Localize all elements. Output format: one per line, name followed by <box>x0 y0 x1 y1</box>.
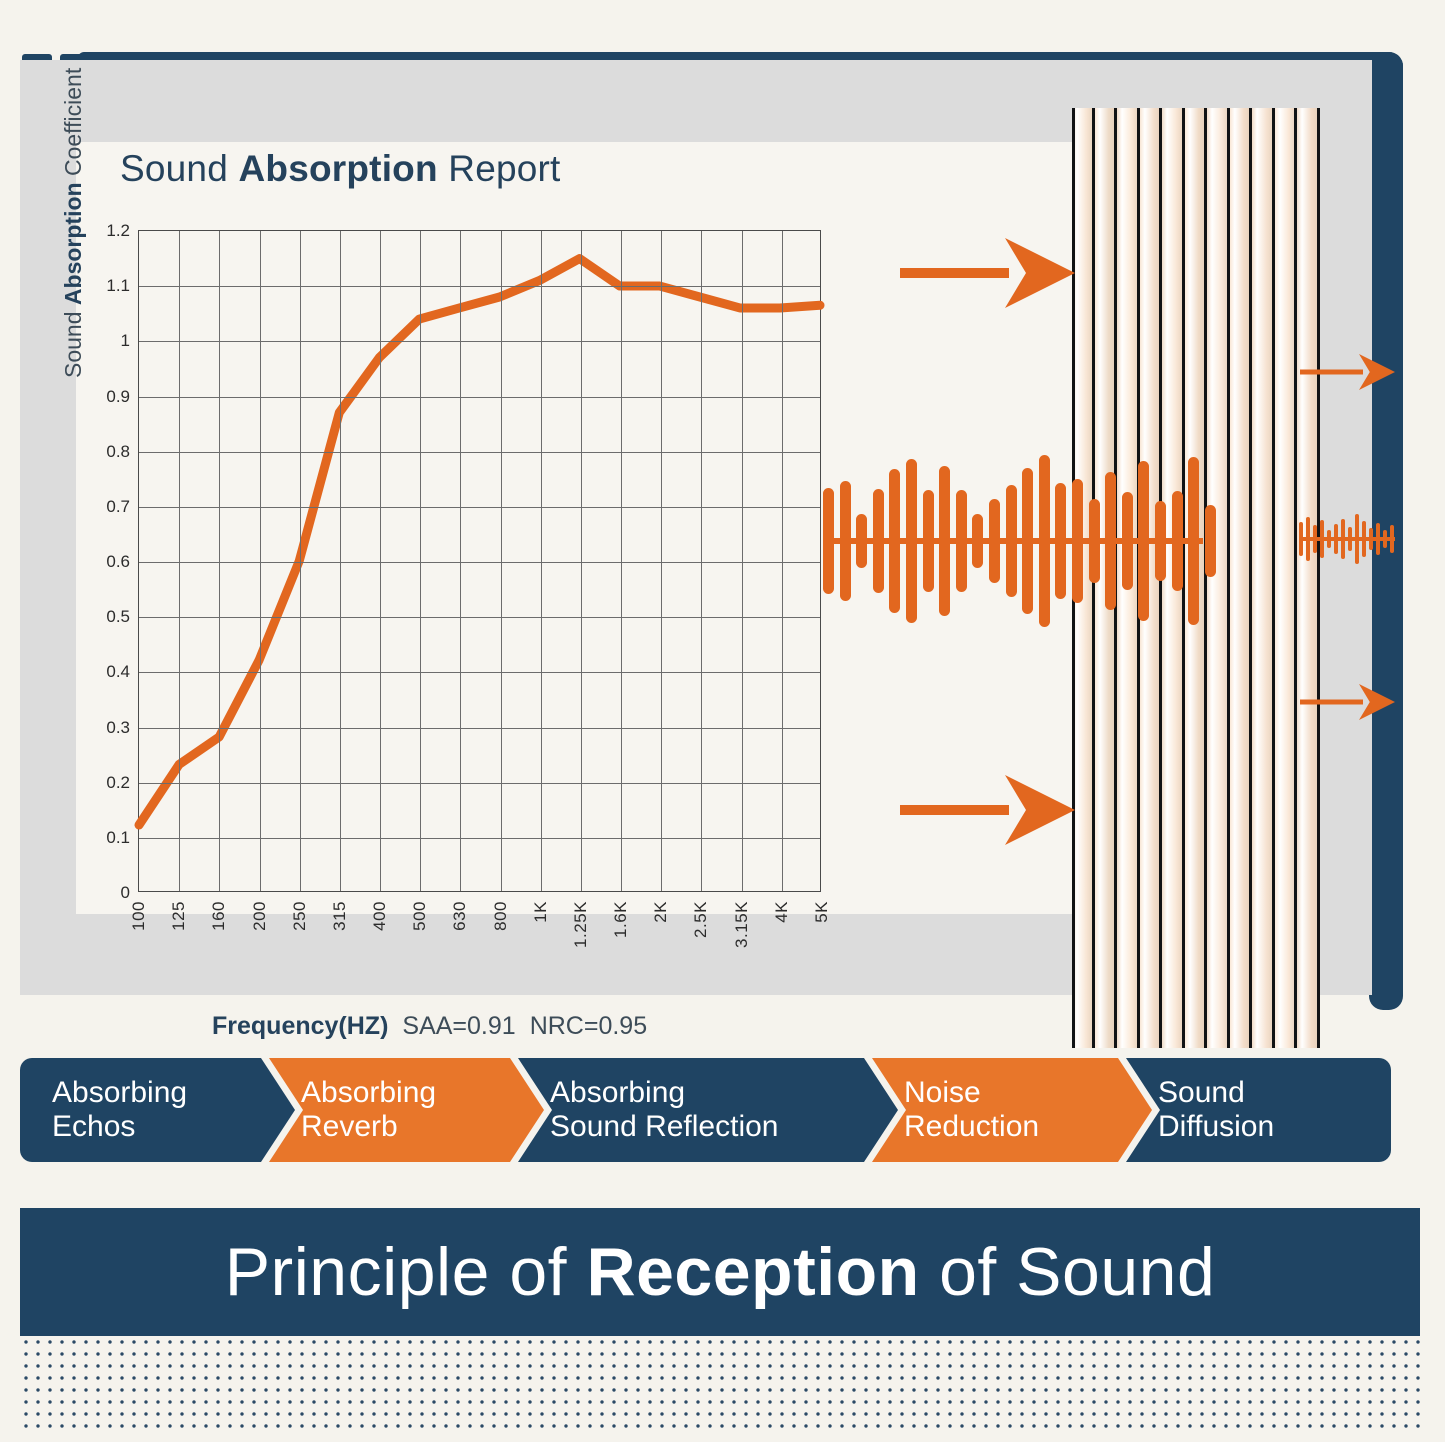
bottom-banner: Principle of Reception of Sound <box>20 1208 1420 1336</box>
gridline-horizontal <box>139 507 820 508</box>
x-axis-tick: 2K <box>651 901 671 923</box>
x-axis-tick: 630 <box>450 901 470 931</box>
gridline-horizontal <box>139 617 820 618</box>
x-axis-tick: 100 <box>129 901 149 931</box>
y-axis-tick: 1.1 <box>106 276 130 296</box>
gridline-vertical <box>581 231 582 891</box>
chevron-label-line1: Absorbing <box>550 1076 779 1110</box>
acoustic-slat-panel <box>1072 108 1320 1048</box>
y-axis-tick: 0.9 <box>106 387 130 407</box>
chevron-label: AbsorbingEchos <box>52 1076 187 1144</box>
x-axis-tick: 5K <box>812 901 832 923</box>
y-axis-tick: 0.8 <box>106 442 130 462</box>
slat-groove <box>1072 108 1075 1048</box>
y-axis-label-prefix: Sound <box>60 305 86 378</box>
chevron-label: NoiseReduction <box>904 1076 1039 1144</box>
chevron-label-line2: Echos <box>52 1110 187 1144</box>
x-axis-tick: 800 <box>491 901 511 931</box>
chevron-step[interactable]: AbsorbingSound Reflection <box>518 1058 898 1162</box>
gridline-vertical <box>340 231 341 891</box>
y-axis-tick: 1 <box>121 331 130 351</box>
absorption-curve <box>139 231 820 891</box>
title-suffix: Report <box>438 148 561 189</box>
nrc-value: NRC=0.95 <box>530 1012 647 1040</box>
y-axis-tick: 0.2 <box>106 773 130 793</box>
gridline-vertical <box>501 231 502 891</box>
page-title: Sound Absorption Report <box>120 148 561 190</box>
absorption-chart: Sound Absorption Coefficient 00.10.20.30… <box>76 208 836 998</box>
gridline-horizontal <box>139 728 820 729</box>
y-axis-label: Sound Absorption Coefficient <box>60 68 87 378</box>
banner-strong: Reception <box>586 1234 919 1310</box>
gridline-horizontal <box>139 452 820 453</box>
gridline-horizontal <box>139 783 820 784</box>
x-axis-tick: 315 <box>330 901 350 931</box>
chevron-label-line2: Sound Reflection <box>550 1110 779 1144</box>
gridline-vertical <box>541 231 542 891</box>
gridline-vertical <box>621 231 622 891</box>
chevron-step[interactable]: AbsorbingEchos <box>20 1058 295 1162</box>
chevron-label: AbsorbingSound Reflection <box>550 1076 779 1144</box>
wave-pattern-strip <box>20 1336 1420 1428</box>
chevron-label: AbsorbingReverb <box>301 1076 436 1144</box>
y-axis-label-suffix: Coefficient <box>60 68 86 183</box>
y-axis-tick: 0.7 <box>106 497 130 517</box>
y-axis-tick: 0.6 <box>106 552 130 572</box>
chevron-step[interactable]: AbsorbingReverb <box>269 1058 544 1162</box>
banner-title: Principle of Reception of Sound <box>225 1233 1216 1311</box>
slat-groove <box>1317 108 1320 1048</box>
chevron-label-line1: Absorbing <box>52 1076 187 1110</box>
banner-prefix: Principle of <box>225 1234 587 1310</box>
chevron-label-line1: Noise <box>904 1076 1039 1110</box>
chart-plot-area: 00.10.20.30.40.50.60.70.80.911.11.210012… <box>138 230 821 892</box>
report-panel: Sound Absorption Report Sound Absorption… <box>20 60 1372 995</box>
x-axis-tick: 400 <box>370 901 390 931</box>
gridline-horizontal <box>139 286 820 287</box>
title-strong: Absorption <box>238 148 437 189</box>
chevron-step[interactable]: NoiseReduction <box>872 1058 1152 1162</box>
gridline-vertical <box>661 231 662 891</box>
chevron-label-line1: Sound <box>1158 1076 1274 1110</box>
gridline-horizontal <box>139 672 820 673</box>
x-axis-tick: 125 <box>169 901 189 931</box>
chart-footer: Frequency(HZ)SAA=0.91NRC=0.95 <box>212 1012 647 1041</box>
saa-value: SAA=0.91 <box>402 1012 515 1040</box>
gridline-vertical <box>460 231 461 891</box>
y-axis-tick: 0.3 <box>106 718 130 738</box>
gridline-vertical <box>742 231 743 891</box>
x-axis-tick: 2.5K <box>691 901 711 938</box>
gridline-vertical <box>701 231 702 891</box>
chevron-label-line2: Reduction <box>904 1110 1039 1144</box>
x-axis-tick: 1.25K <box>571 901 591 948</box>
title-prefix: Sound <box>120 148 238 189</box>
benefit-chevron-row: AbsorbingEchosAbsorbingReverbAbsorbingSo… <box>20 1058 1420 1162</box>
window-frame-right <box>1369 52 1403 1010</box>
y-axis-label-strong: Absorption <box>60 182 86 305</box>
y-axis-tick: 0.5 <box>106 607 130 627</box>
chevron-label-line2: Reverb <box>301 1110 436 1144</box>
gridline-vertical <box>380 231 381 891</box>
y-axis-tick: 0.1 <box>106 828 130 848</box>
banner-suffix: of Sound <box>920 1234 1216 1310</box>
gridline-vertical <box>300 231 301 891</box>
x-axis-tick: 500 <box>410 901 430 931</box>
chevron-label: SoundDiffusion <box>1158 1076 1274 1144</box>
y-axis-tick: 1.2 <box>106 221 130 241</box>
chevron-step[interactable]: SoundDiffusion <box>1126 1058 1391 1162</box>
gridline-horizontal <box>139 397 820 398</box>
x-axis-tick: 3.15K <box>732 901 752 948</box>
poster-root: Sound Absorption Report Sound Absorption… <box>0 0 1445 1442</box>
chevron-label-line1: Absorbing <box>301 1076 436 1110</box>
x-axis-tick: 200 <box>250 901 270 931</box>
gridline-horizontal <box>139 341 820 342</box>
gridline-vertical <box>782 231 783 891</box>
y-axis-tick: 0.4 <box>106 662 130 682</box>
gridline-horizontal <box>139 838 820 839</box>
gridline-vertical <box>260 231 261 891</box>
x-axis-tick: 160 <box>209 901 229 931</box>
chevron-label-line2: Diffusion <box>1158 1110 1274 1144</box>
x-axis-tick: 1K <box>531 901 551 923</box>
x-axis-label: Frequency(HZ) <box>212 1012 388 1040</box>
y-axis-tick: 0 <box>121 883 130 903</box>
gridline-horizontal <box>139 562 820 563</box>
gridline-vertical <box>219 231 220 891</box>
x-axis-tick: 250 <box>290 901 310 931</box>
x-axis-tick: 1.6K <box>611 901 631 938</box>
x-axis-tick: 4K <box>772 901 792 923</box>
gridline-vertical <box>179 231 180 891</box>
gridline-vertical <box>420 231 421 891</box>
